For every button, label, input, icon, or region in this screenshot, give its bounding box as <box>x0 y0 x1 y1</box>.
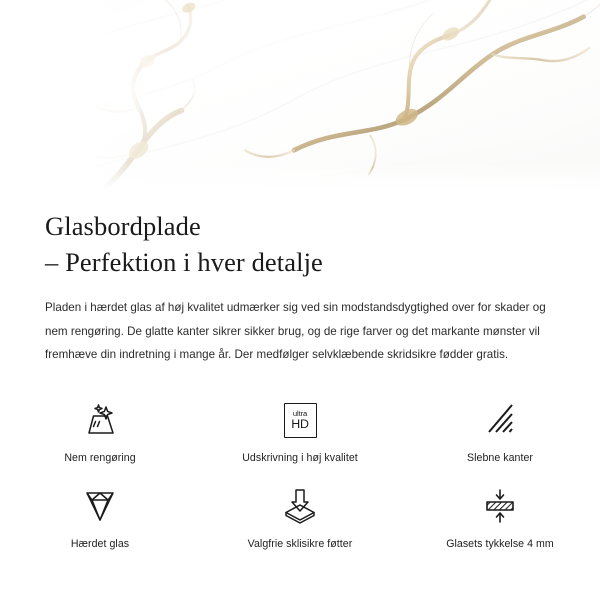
feature-item-polished-edges: Slebne kanter <box>400 398 600 465</box>
page-title: Glasbordplade – Perfektion i hver detalj… <box>0 200 600 280</box>
diamond-icon <box>78 484 122 528</box>
feature-item-hd-printing: ultra HD Udskrivning i høj kvalitet <box>200 398 400 465</box>
feature-item-nonslip-feet: Valgfrie sklisikre føtter <box>200 484 400 551</box>
feature-label: Valgfrie sklisikre føtter <box>248 537 353 551</box>
ultra-hd-badge: ultra HD <box>284 403 317 438</box>
badge-text-hd: HD <box>291 418 309 430</box>
ultra-hd-icon: ultra HD <box>278 398 322 442</box>
headline-line-2: – Perfektion i hver detalje <box>45 244 560 280</box>
glass-slab <box>0 0 600 200</box>
feature-label: Nem rengøring <box>64 451 135 465</box>
badge-text-ultra: ultra <box>293 410 307 418</box>
thickness-arrows-icon <box>478 484 522 528</box>
feature-item-glass-thickness: Glasets tykkelse 4 mm <box>400 484 600 551</box>
press-on-pad-icon <box>278 484 322 528</box>
polished-edges-icon <box>478 398 522 442</box>
hero-product-image <box>0 0 600 200</box>
marble-gold-veining <box>0 0 600 200</box>
description-content: Glasbordplade – Perfektion i hver detalj… <box>0 200 600 367</box>
hero-stage <box>0 0 600 200</box>
description-paragraph: Pladen i hærdet glas af høj kvalitet udm… <box>0 280 600 367</box>
headline-line-1: Glasbordplade <box>45 211 201 241</box>
feature-label: Slebne kanter <box>467 451 533 465</box>
feature-grid: Nem rengøring ultra HD Udskrivning i høj… <box>0 398 600 551</box>
feature-label: Hærdet glas <box>71 537 129 551</box>
feature-item-tempered-glass: Hærdet glas <box>0 484 200 551</box>
feature-label: Udskrivning i høj kvalitet <box>242 451 358 465</box>
feature-item-easy-cleaning: Nem rengøring <box>0 398 200 465</box>
product-description-page: Glasbordplade – Perfektion i hver detalj… <box>0 0 600 600</box>
sparkle-panel-icon <box>78 398 122 442</box>
feature-label: Glasets tykkelse 4 mm <box>446 537 554 551</box>
